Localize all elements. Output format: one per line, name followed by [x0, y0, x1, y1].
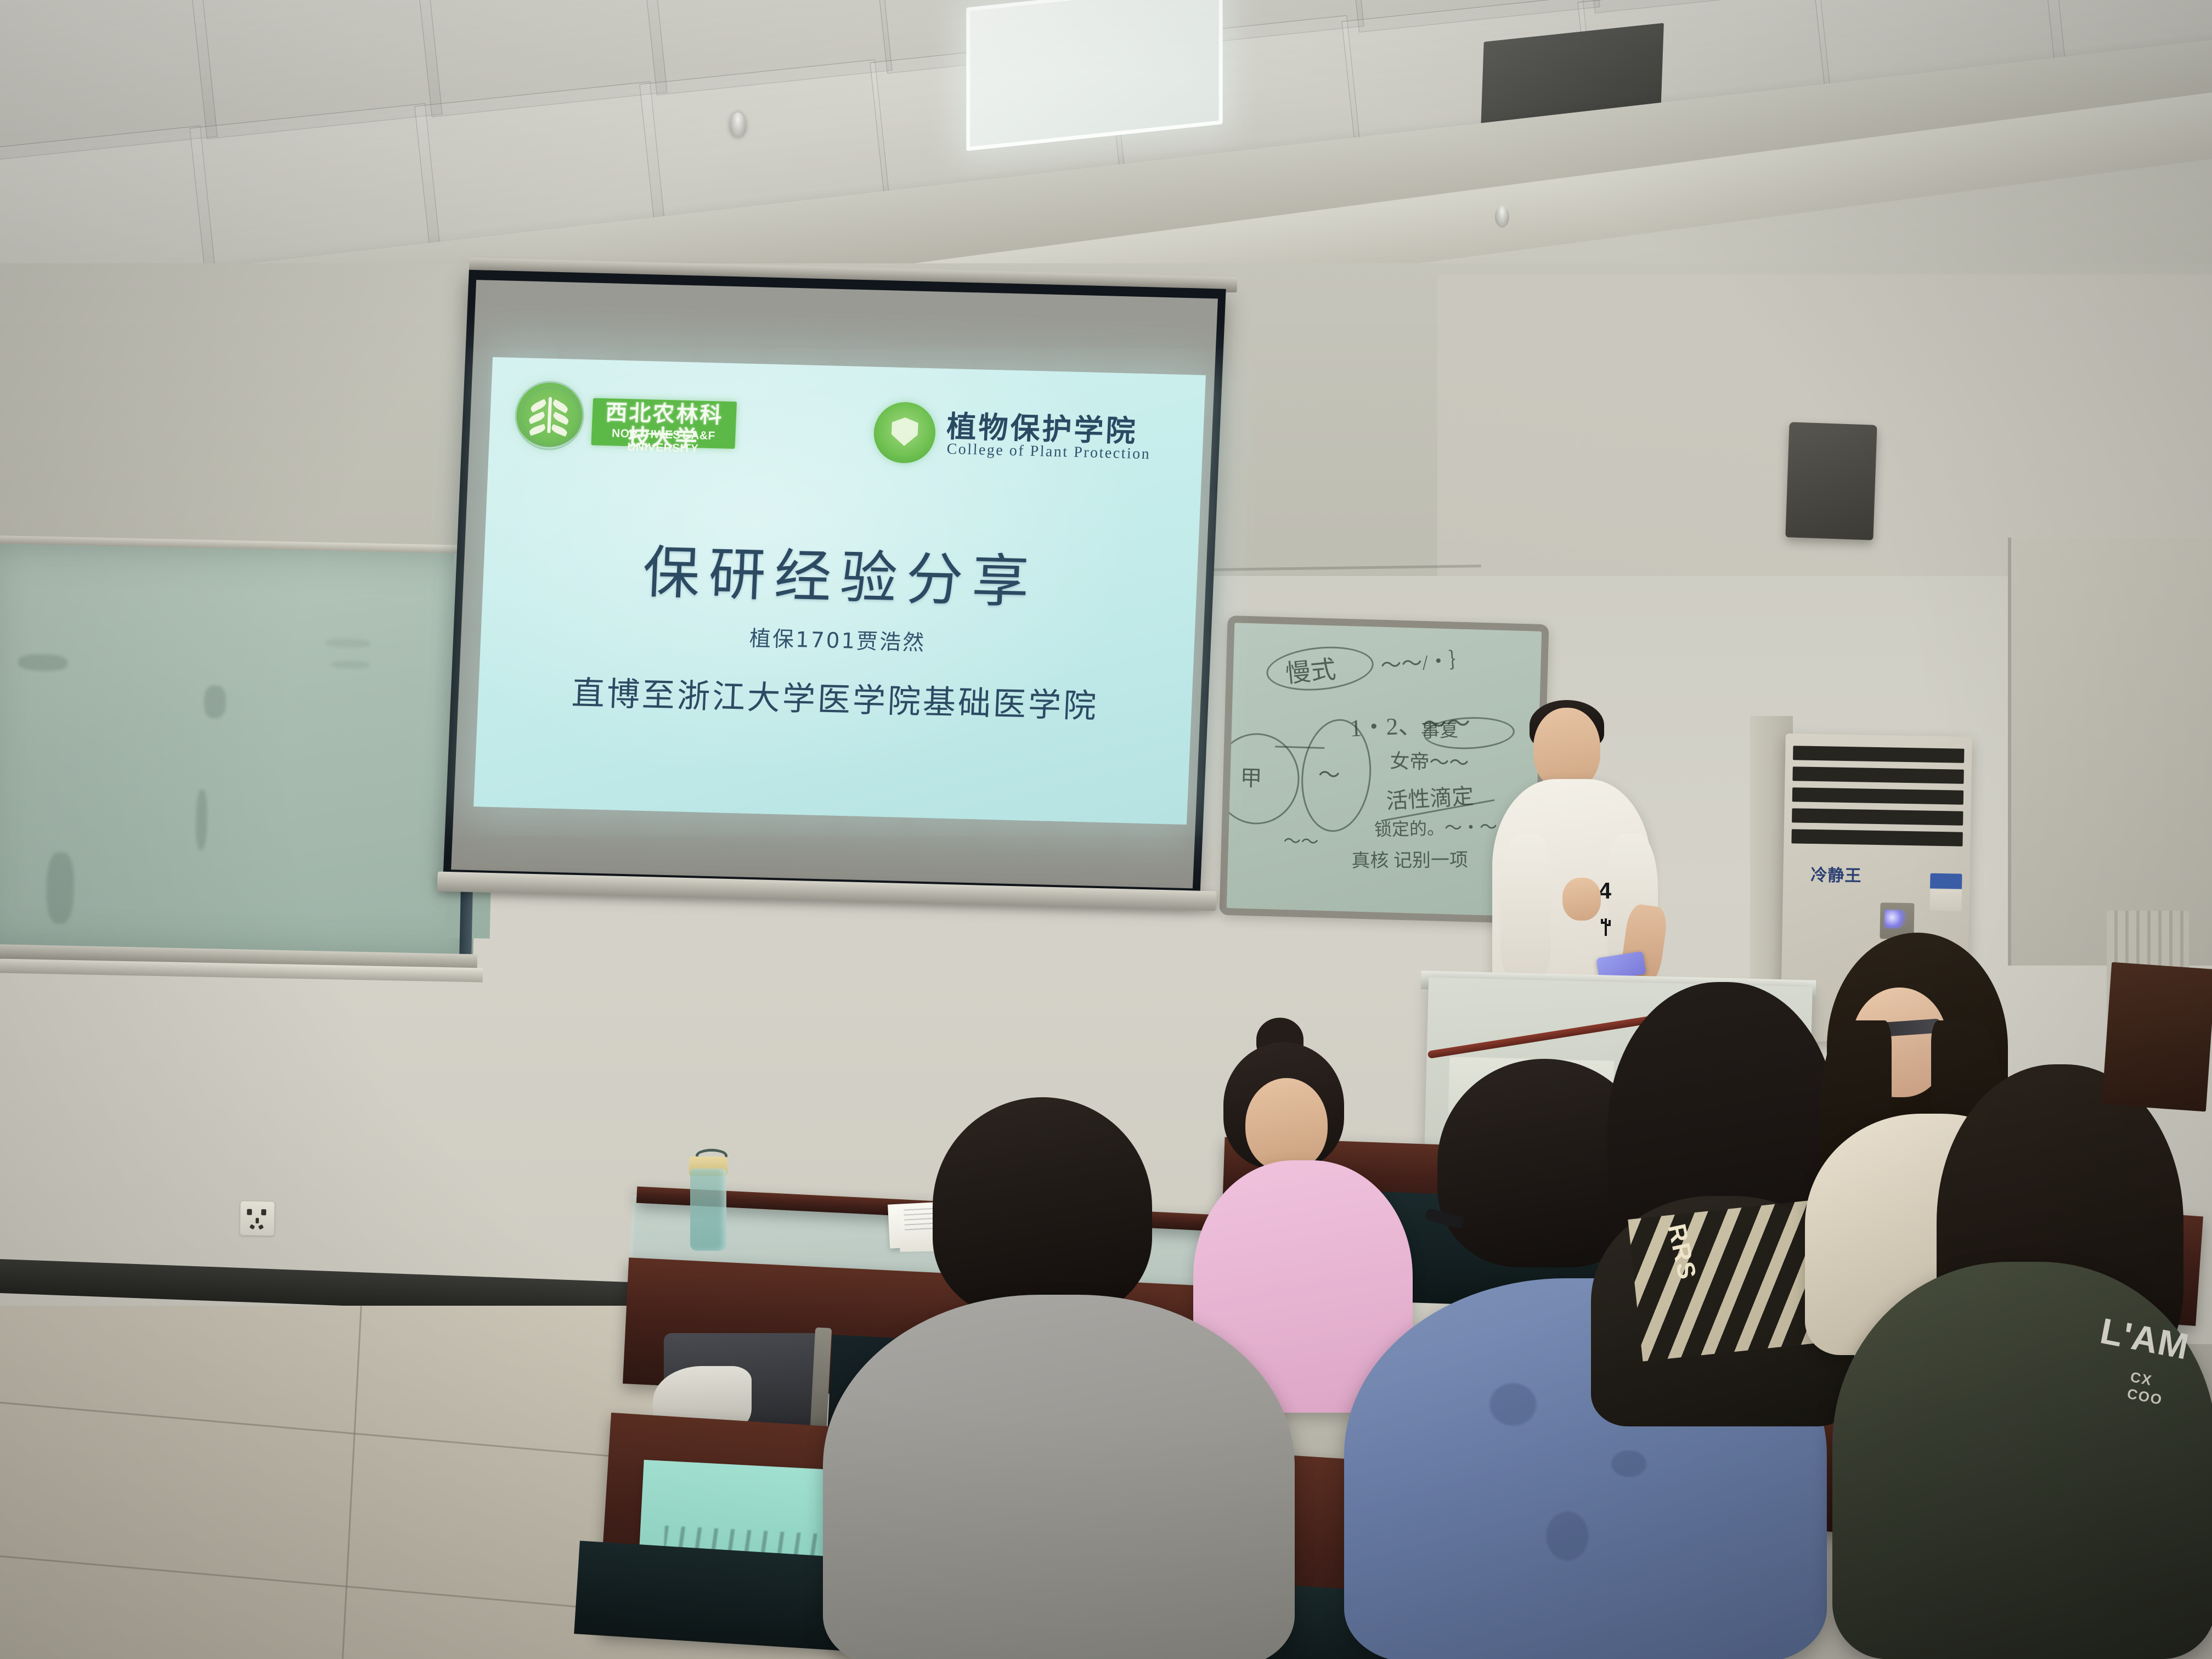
college-seal-icon	[873, 402, 937, 465]
right-door	[2008, 538, 2212, 966]
presentation-slide: 西北农林科技大学 NORTHWEST A&F UNIVERSITY 植物保护学院…	[473, 357, 1206, 825]
shield-icon	[891, 417, 918, 446]
ac-brand-label: 冷静王	[1810, 861, 1862, 887]
striped-pattern	[1628, 1200, 1822, 1361]
fire-sprinkler-icon	[1495, 206, 1509, 228]
wall-speaker	[1785, 422, 1877, 540]
ac-energy-label	[1929, 873, 1962, 911]
classroom-photo: 慢式 〜～/・｝ 1・2、〜〜 事复 女帝〜〜 甲 〜 活性滴定 锁定的。〜・〜…	[0, 0, 2212, 1659]
presenter-head	[1533, 708, 1600, 790]
jacket-text-line2: CX COO	[2126, 1368, 2168, 1408]
water-bottle[interactable]	[690, 1169, 726, 1251]
green-chalkboard	[0, 544, 482, 960]
presenter-hand	[1562, 878, 1601, 921]
wall-power-outlet[interactable]	[240, 1201, 274, 1235]
university-seal-icon	[515, 382, 584, 449]
chair-back-right	[2102, 962, 2212, 1112]
screen-surface: 西北农林科技大学 NORTHWEST A&F UNIVERSITY 植物保护学院…	[451, 280, 1218, 888]
university-name-english: NORTHWEST A&F UNIVERSITY	[593, 427, 733, 456]
college-of-plant-protection-logo: 植物保护学院 College of Plant Protection	[872, 397, 1161, 481]
university-name-band: 西北农林科技大学 NORTHWEST A&F UNIVERSITY	[591, 398, 737, 449]
ceiling	[0, 0, 2212, 307]
presenter-arm-left	[1500, 834, 1551, 977]
screen-frame: 西北农林科技大学 NORTHWEST A&F UNIVERSITY 植物保护学院…	[443, 270, 1226, 898]
northwest-af-university-logo: 西北农林科技大学 NORTHWEST A&F UNIVERSITY	[515, 380, 737, 456]
ac-led-indicator	[1884, 910, 1910, 929]
cactus-icon	[1596, 911, 1615, 936]
projection-screen: 西北农林科技大学 NORTHWEST A&F UNIVERSITY 植物保护学院…	[442, 270, 1280, 926]
fire-sprinkler-icon	[730, 112, 746, 138]
